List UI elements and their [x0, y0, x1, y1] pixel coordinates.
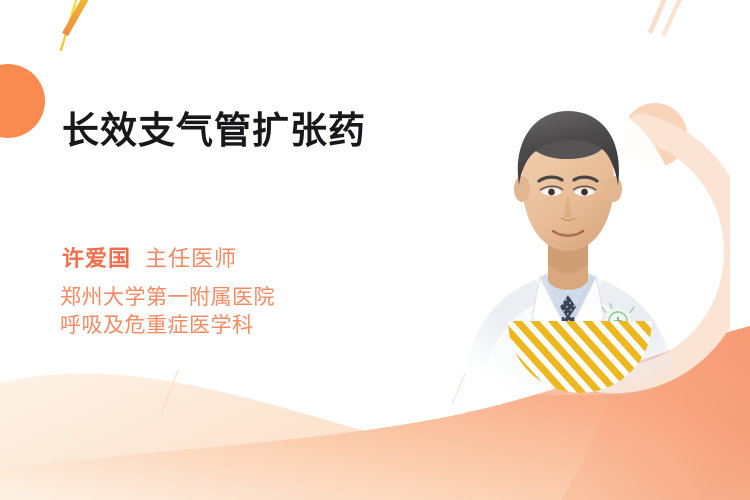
- speaker-affiliation: 郑州大学第一附属医院 呼吸及危重症医学科: [60, 284, 275, 341]
- gold-diagonal-stroke-icon: [62, 0, 93, 36]
- affiliation-line-1: 郑州大学第一附属医院: [60, 284, 275, 312]
- yellow-thin-diagonal-stroke-icon: [61, 0, 78, 50]
- peach-diagonal-stroke-top-right-icon: [648, 0, 684, 36]
- portrait-block: [440, 85, 730, 395]
- orange-circle-left-icon: [0, 64, 45, 138]
- speaker-name: 许爱国: [62, 246, 131, 271]
- speaker-byline: 许爱国主任医师: [62, 248, 237, 270]
- slide-title: 长效支气管扩张药: [62, 108, 366, 154]
- peach-diagonal-fleck-icon: [162, 370, 465, 412]
- presentation-slide: 长效支气管扩张药 许爱国主任医师 郑州大学第一附属医院 呼吸及危重症医学科: [0, 0, 750, 500]
- speaker-role: 主任医师: [145, 246, 237, 271]
- affiliation-line-2: 呼吸及危重症医学科: [60, 312, 275, 340]
- doctor-portrait: [440, 85, 730, 395]
- striped-circle-badge-icon: [508, 249, 652, 393]
